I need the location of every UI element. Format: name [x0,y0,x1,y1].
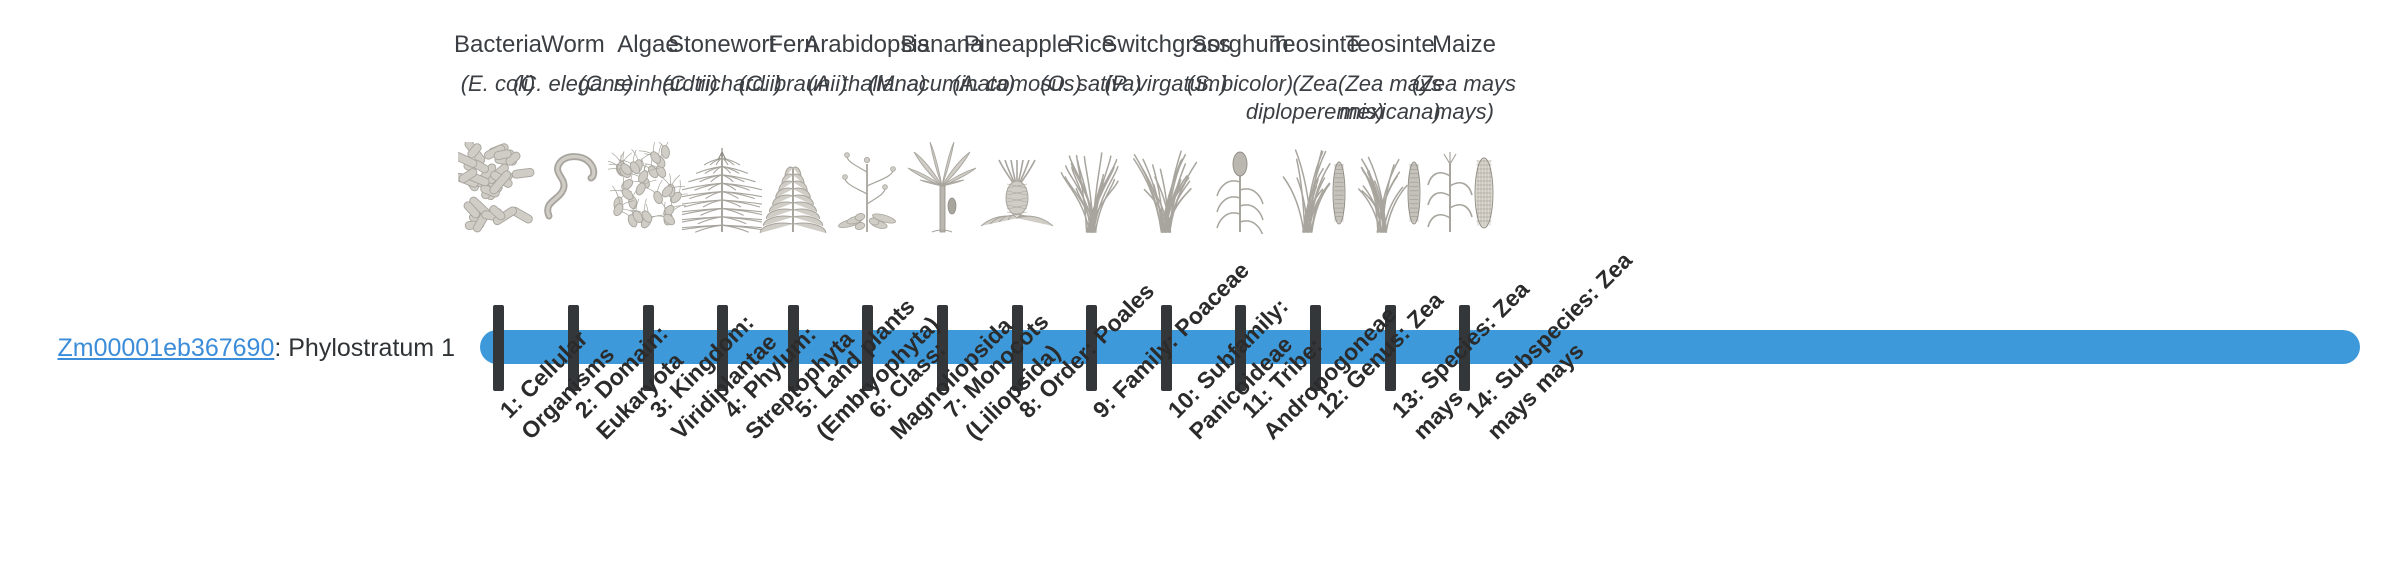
species-column: Maize(Zea mays mays) [1388,30,1540,234]
tick-mark [493,305,504,391]
gene-label: Zm00001eb367690: Phylostratum 1 [0,333,455,363]
phylostratigraphy-figure: Zm00001eb367690: Phylostratum 1 Bacteria… [0,0,2400,580]
phylostratum-text: : Phylostratum 1 [274,334,455,362]
maize-icon [1388,134,1540,234]
species-scientific-name: (Zea mays mays) [1388,70,1540,128]
gene-id-link[interactable]: Zm00001eb367690 [58,334,275,362]
species-common-name: Maize [1388,30,1540,60]
